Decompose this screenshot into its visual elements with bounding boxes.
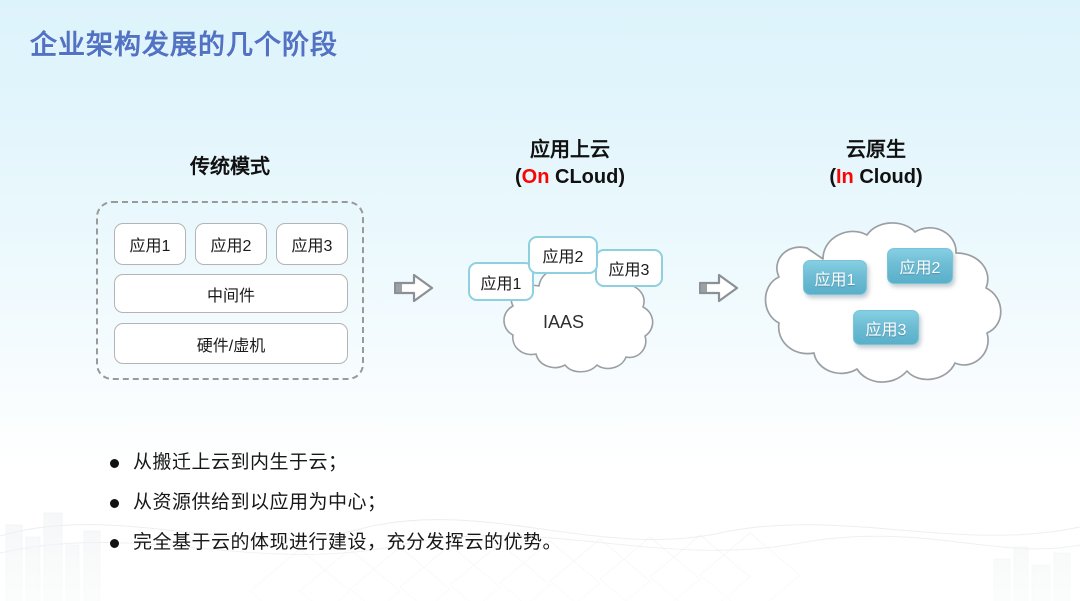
- paren-close: ): [618, 166, 625, 188]
- oncloud-app-label-2: 应用2: [543, 243, 584, 267]
- traditional-middleware-label: 中间件: [207, 282, 255, 306]
- stage-title-cloud-native-accent: In: [836, 166, 854, 188]
- stage-title-traditional: 传统模式: [100, 154, 360, 181]
- summary-bullet-list: 从搬迁上云到内生于云； 从资源供给到以应用为中心； 完全基于云的体现进行建设，充…: [110, 450, 730, 570]
- stage-title-on-cloud-rest: CLoud: [549, 166, 618, 188]
- cloud-native-cloud-shape: [757, 215, 1009, 387]
- stage-title-cloud-native-rest: Cloud: [854, 166, 916, 188]
- oncloud-app-box-2[interactable]: 应用2: [528, 236, 598, 274]
- stage-title-on-cloud: 应用上云 (On CLoud): [450, 137, 690, 191]
- page-title: 企业架构发展的几个阶段: [30, 23, 338, 62]
- bullet-text-1: 从搬迁上云到内生于云；: [133, 450, 348, 476]
- traditional-app-box-2[interactable]: 应用2: [195, 223, 267, 265]
- paren-open: (: [515, 166, 522, 188]
- bullet-dot-icon: [110, 499, 119, 508]
- bullet-dot-icon: [110, 459, 119, 468]
- bullet-item: 从资源供给到以应用为中心；: [110, 490, 730, 516]
- paren-close: ): [916, 166, 923, 188]
- bullet-dot-icon: [110, 539, 119, 548]
- cloudnative-app-label-2: 应用2: [900, 254, 941, 278]
- stage-title-on-cloud-accent: On: [522, 166, 550, 188]
- traditional-app-label-1: 应用1: [130, 232, 171, 256]
- oncloud-app-box-1[interactable]: 应用1: [468, 262, 534, 301]
- traditional-app-box-1[interactable]: 应用1: [114, 223, 186, 265]
- stage-title-traditional-cn: 传统模式: [190, 156, 270, 178]
- arrow-stage1-to-stage2-icon: [394, 272, 434, 304]
- cloudnative-app-box-1[interactable]: 应用1: [803, 260, 867, 295]
- cloudnative-app-label-3: 应用3: [866, 316, 907, 340]
- stage-title-cloud-native: 云原生 (In Cloud): [762, 137, 990, 191]
- stage-title-cloud-native-en: (In Cloud): [762, 164, 990, 191]
- slide-canvas: 企业架构发展的几个阶段 传统模式 应用1 应用2 应用3 中间件 硬件/虚机 应…: [0, 0, 1080, 601]
- oncloud-app-box-3[interactable]: 应用3: [595, 249, 663, 287]
- traditional-hardware-label: 硬件/虚机: [197, 332, 265, 356]
- bullet-item: 完全基于云的体现进行建设，充分发挥云的优势。: [110, 530, 730, 556]
- traditional-app-label-3: 应用3: [292, 232, 333, 256]
- traditional-app-box-3[interactable]: 应用3: [276, 223, 348, 265]
- oncloud-app-label-1: 应用1: [481, 270, 522, 294]
- bullet-text-2: 从资源供给到以应用为中心；: [133, 490, 387, 516]
- cloudnative-app-label-1: 应用1: [815, 266, 856, 290]
- stage-title-on-cloud-en: (On CLoud): [450, 164, 690, 191]
- oncloud-app-label-3: 应用3: [609, 256, 650, 280]
- traditional-app-label-2: 应用2: [211, 232, 252, 256]
- iaas-cloud-label: IAAS: [543, 312, 584, 333]
- stage-title-on-cloud-cn: 应用上云: [450, 137, 690, 164]
- paren-open: (: [829, 166, 836, 188]
- arrow-stage2-to-stage3-icon: [699, 272, 739, 304]
- bullet-item: 从搬迁上云到内生于云；: [110, 450, 730, 476]
- stage-title-cloud-native-cn: 云原生: [762, 137, 990, 164]
- traditional-middleware-box[interactable]: 中间件: [114, 274, 348, 313]
- traditional-hardware-box[interactable]: 硬件/虚机: [114, 323, 348, 364]
- cloudnative-app-box-3[interactable]: 应用3: [853, 310, 919, 345]
- cloudnative-app-box-2[interactable]: 应用2: [887, 248, 953, 284]
- bullet-text-3: 完全基于云的体现进行建设，充分发挥云的优势。: [133, 530, 562, 556]
